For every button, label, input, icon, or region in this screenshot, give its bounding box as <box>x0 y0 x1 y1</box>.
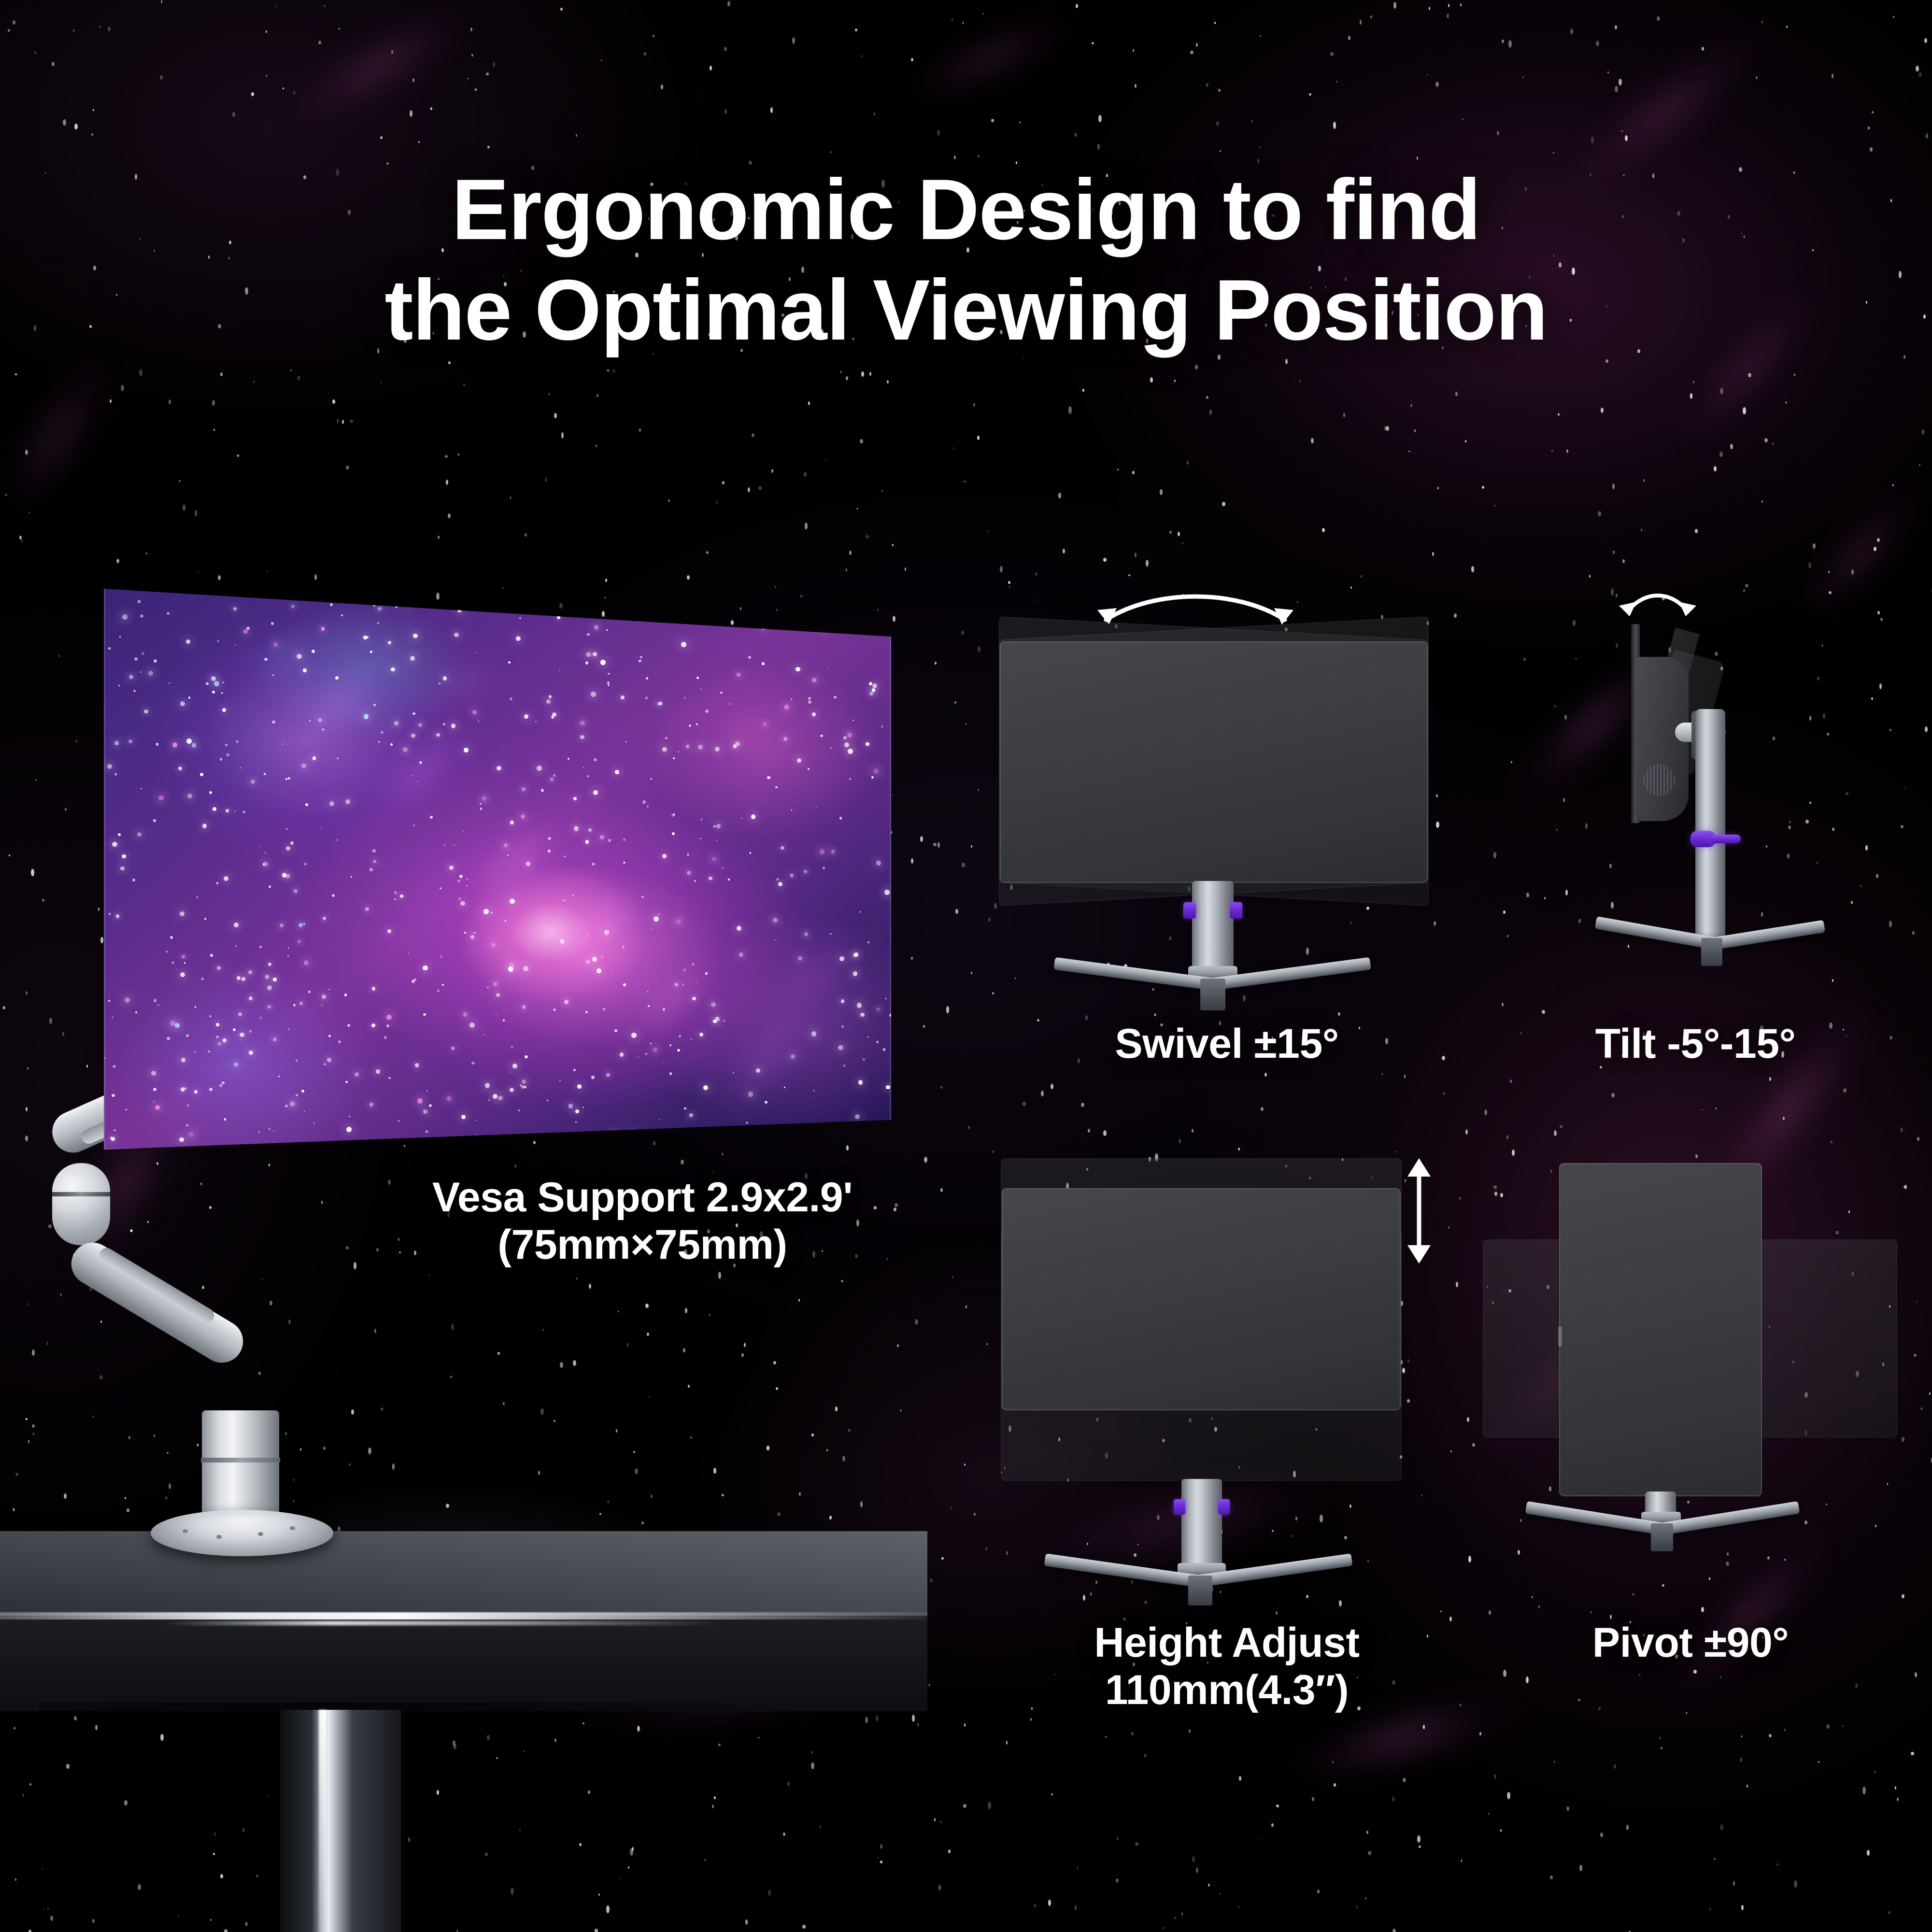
swivel-label: Swivel ±15° <box>995 1020 1459 1067</box>
pivot-panel-button-icon <box>1558 1326 1562 1347</box>
height-monitor-panel <box>1002 1188 1401 1410</box>
desk-apron-highlight <box>164 1621 720 1625</box>
main-monitor-screen <box>104 580 891 1150</box>
height-base-front-prong <box>1188 1576 1212 1605</box>
tilt-label: Tilt -5°-15° <box>1521 1020 1869 1067</box>
base-screw <box>183 1529 188 1533</box>
arm-elbow-ring <box>52 1192 110 1196</box>
desk <box>0 1531 927 1932</box>
main-monitor <box>104 580 891 1150</box>
base-screw <box>258 1532 263 1536</box>
base-screw <box>290 1526 295 1530</box>
height-stand-accent-clip-right <box>1218 1499 1230 1515</box>
tilt-stand-column <box>1695 709 1725 941</box>
arm-base-ring <box>201 1458 280 1463</box>
pivot-base-front-prong <box>1651 1523 1673 1551</box>
arm-elbow-joint <box>52 1163 110 1245</box>
headline-line-2: the Optimal Viewing Position <box>0 260 1932 360</box>
feature-tilt: Tilt -5°-15° <box>1521 580 1869 1063</box>
tilt-stand-lever-handle <box>1711 835 1741 843</box>
vesa-support-label: Vesa Support 2.9x2.9' (75mm×75mm) <box>309 1174 976 1268</box>
swivel-stand-accent-clip-right <box>1230 902 1242 919</box>
base-screw <box>216 1535 222 1539</box>
swivel-stand-accent-clip-left <box>1183 902 1196 919</box>
height-label-line-2: 110mm(4.3″) <box>995 1666 1459 1714</box>
headline: Ergonomic Design to find the Optimal Vie… <box>0 159 1932 361</box>
tilt-base-front-prong <box>1701 938 1722 966</box>
swivel-monitor-panel <box>1000 641 1428 883</box>
desk-leg <box>280 1710 401 1932</box>
desk-apron <box>0 1619 927 1711</box>
swivel-base-front-prong <box>1200 979 1225 1010</box>
arm-lower-segment <box>63 1235 251 1370</box>
headline-line-1: Ergonomic Design to find <box>0 159 1932 260</box>
arm-base-post <box>202 1410 279 1521</box>
tilt-monitor-vent-icon <box>1643 764 1675 796</box>
feature-pivot: Pivot ±90° <box>1473 1135 1908 1695</box>
height-stand-neck <box>1181 1479 1222 1574</box>
height-stand-accent-clip-left <box>1174 1499 1185 1515</box>
arm-base-highlight <box>166 1516 318 1548</box>
product-feature-card: Ergonomic Design to find the Optimal Vie… <box>0 0 1932 1932</box>
height-label-line-1: Height Adjust <box>995 1619 1459 1666</box>
tilt-arc-arrow-icon <box>1614 583 1701 627</box>
pivot-monitor-panel-portrait <box>1559 1163 1762 1496</box>
vesa-label-line-1: Vesa Support 2.9x2.9' <box>309 1174 976 1221</box>
pivot-label: Pivot ±90° <box>1473 1619 1908 1666</box>
desk-front-edge-highlight <box>0 1612 927 1620</box>
vesa-label-line-2: (75mm×75mm) <box>309 1221 976 1268</box>
height-vertical-arrow-icon <box>1400 1155 1438 1266</box>
desk-leg-highlight <box>319 1710 327 1932</box>
desk-shadow <box>39 1703 860 1732</box>
tilt-base-foot-right <box>1709 920 1825 951</box>
feature-height-adjust: Height Adjust 110mm(4.3″) <box>995 1135 1459 1695</box>
swivel-stand-neck <box>1192 881 1234 977</box>
feature-swivel: Swivel ±15° <box>995 580 1459 1063</box>
